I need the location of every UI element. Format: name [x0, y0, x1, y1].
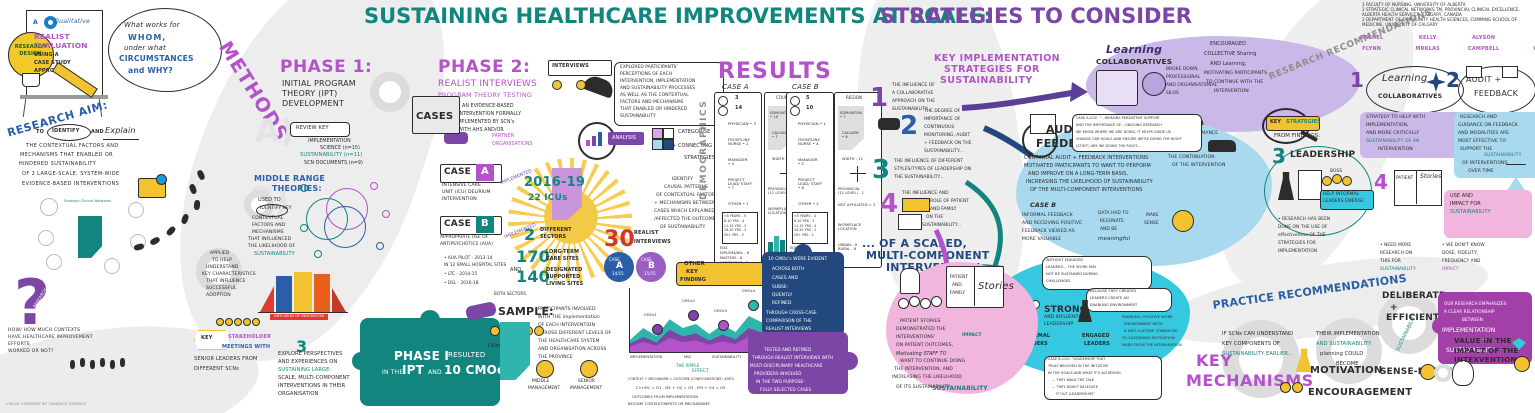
- mrt-used-to: USED TO: [258, 198, 281, 203]
- chart-point-label-1: CMOc2: [682, 300, 695, 304]
- case-b-col2-1: CALGARY• 8: [842, 132, 859, 140]
- affiliation-2: 2 STRATEGIC CLINICAL NETWORKS TM, PROVIN…: [1362, 8, 1534, 17]
- senior-management-icon: [580, 360, 598, 378]
- strategy-3-text-2: THE SUSTAINABILITY...: [894, 176, 944, 181]
- strategy-3-text-1: STYLES/TYPES OF LEADERSHIP ON: [894, 168, 971, 173]
- strategy-2-text-0: THE DEGREE OF: [924, 110, 960, 115]
- checklist-icon-rec2: [1466, 66, 1482, 78]
- case-b-years-list: <5 YEARS - 46-10 YRS - 311-15 YRS - 416-…: [794, 214, 816, 238]
- phase2-partner-1: ORGANISATIONS: [492, 142, 533, 147]
- using-a-label: USING A: [34, 53, 59, 58]
- diffusion-curve-chart: DIFFUSION OF INNOVATION: [258, 270, 350, 316]
- review-body-1: SCIENCE (n=15): [320, 146, 360, 151]
- okf-note-1: BECOME CONTEXT/INPUTS OR MECHANISMS: [628, 403, 710, 407]
- applied-4: THAT INFLUENCE: [206, 280, 246, 285]
- stat1-label-1: SECTORS: [540, 235, 566, 240]
- strategy-2-text-4: + FEEDBACK ON THE: [924, 142, 972, 147]
- case-a-icus: 22 ICUs: [528, 194, 568, 204]
- case-b-row-2: MANAGER• 2: [798, 158, 818, 166]
- person-icon: [1332, 174, 1342, 184]
- mrt-body-6: THE LIKELIHOOD OF: [248, 245, 295, 250]
- person-icon: [1292, 382, 1303, 393]
- explore-5: ORGANISATION: [278, 392, 318, 398]
- learning-collab-enc-4: TO CONTINUE WITH THE: [1206, 81, 1263, 86]
- stat3-number: 140: [516, 268, 550, 285]
- okf-label-0: OTHER: [684, 262, 705, 268]
- visual-summary-poster: Sustaining healthcare improvements at sc…: [0, 0, 1535, 413]
- sample-body-5: AND ORGANISATION ACROSS: [538, 348, 606, 353]
- phase2-body-0: AN EVIDENCE-BASED: [462, 104, 514, 109]
- leadership-quote-4: ... THEY DIDN'T DELEGATE: [1052, 386, 1098, 390]
- puzzle-ipt: IPT: [402, 364, 424, 377]
- easel-stand: [20, 95, 108, 99]
- audit-body-1: MOTIVATED PARTICIPANTS TO WANT TO PERFOR…: [1024, 164, 1151, 169]
- chart-point-cmoc3: [718, 320, 729, 331]
- rec-4-stories: Stories: [1420, 174, 1441, 180]
- practice-gear3-0: DELIBERATE: [1382, 292, 1445, 302]
- footprint: [110, 360, 115, 369]
- phase1-sub-2: DEVELOPMENT: [282, 100, 344, 109]
- case-a-female: 14: [735, 106, 742, 111]
- phase2-title: PHASE 2:: [438, 58, 530, 76]
- middle-management-label-1: MANAGEMENT: [528, 387, 560, 392]
- strategy-4-text-2: AND FAMILY: [930, 208, 956, 213]
- person-icon: [1280, 382, 1291, 393]
- stakeholder-line1: STAKEHOLDER: [228, 335, 271, 340]
- chart-point-label-2: CMOc3: [714, 310, 727, 314]
- rec-4-book-spine: [1416, 170, 1417, 204]
- gap-caption: HOW/ HOW MUCH CONTEXTSHAVE HEALTHCARE IM…: [8, 328, 93, 356]
- leadership-b3-0: ENABLING, POSITIVE WORK: [1122, 316, 1173, 320]
- case-b-col2-0: EDMONTON• 7: [840, 112, 862, 120]
- results-case-a-label: CASE A: [722, 84, 749, 92]
- puzzle-inthe: IN THE: [382, 370, 403, 376]
- evaluation-label: EVALUATION: [34, 42, 88, 50]
- patient-body-0: PATIENT STORIES: [900, 320, 940, 325]
- learning-collab-enc-1: COLLECTIVE Sharing: [1204, 52, 1256, 57]
- interviews-stat-l1: REALIST: [634, 231, 659, 236]
- rec-2-body-2: AND MODALITIES ARE: [1458, 132, 1509, 137]
- stat2-label-0: LONG-TERM: [546, 250, 579, 255]
- gear-icon-phase1: [370, 72, 410, 112]
- audit-data-2: AND BE: [1100, 228, 1117, 233]
- identify-6: OF SUSTAINABILITY: [660, 226, 705, 231]
- case-b-body-1: ANTIPSYCHOTICS (AUA): [440, 243, 493, 248]
- lightbulb-icon-audit: [1172, 210, 1194, 232]
- cmoc-bottom-4: IN THE TWO PURPOSE-: [756, 380, 805, 385]
- mrt-body-5: THAT INFLUENCED: [248, 238, 291, 243]
- practice-gear2-2: planning COULD: [1320, 352, 1363, 358]
- rec-4-patient: PATIENT: [1396, 176, 1413, 181]
- rec-3-badge-0: HELP INFORMAL: [1323, 193, 1359, 198]
- cmoc-bottom-5: FULLY SELECTED CASES: [760, 388, 811, 393]
- patient-body-6: THE INTERVENTION, AND: [894, 368, 953, 373]
- footprint: [149, 236, 161, 246]
- chart-point-cmoc1: [652, 324, 663, 335]
- interviews-stat-l2: INTERVIEWS: [634, 240, 671, 245]
- rec-2-number: 2: [1446, 70, 1460, 92]
- strategy-1-text-2: APPROACH ON THE: [892, 100, 935, 105]
- mrt-body-2: CONTEXTUAL: [252, 217, 283, 222]
- mechanism-value-impact: VALUE IN THEIMPACT OF THEINTEXVENTION: [1454, 336, 1519, 365]
- person-icon: [931, 296, 942, 307]
- person-icon: [216, 318, 224, 326]
- venn-diagram: [300, 180, 390, 265]
- hourglass-icon-rec2: [1506, 164, 1526, 192]
- footprint: [133, 243, 144, 251]
- rec-1-body-3: SUSTAINABILITY OF AN: [1366, 140, 1420, 145]
- phase2-body-1: INTERVENTION FORMALLY: [458, 112, 521, 117]
- leadership-b3-3: TO SUSTAINING MOTIVATION: [1122, 337, 1175, 341]
- audit-case-b-3: MORE VALUABLE: [1022, 238, 1061, 243]
- telephone-icon: [582, 73, 616, 98]
- categorise-swatches: [652, 128, 674, 150]
- cmoc-bottom-0: TESTED AND REFINED: [764, 348, 811, 353]
- okf-formula-2: C1+M1 = O1 , M2 + O2 = O3 , M3 + O4 = O5: [636, 386, 726, 390]
- underline-explain: [103, 139, 139, 140]
- patient-person-icon: [900, 268, 920, 294]
- audit-quote-4: (STUFF) ARE WE DOING THE RIGHT...: [1076, 145, 1140, 149]
- leadership-quote-5: IT OUT (LEADERSHIP)": [1056, 393, 1095, 397]
- rec-2-body-7: OVER TIME: [1468, 170, 1494, 175]
- chart-axis-y: [629, 288, 630, 352]
- aim-to: TO: [36, 130, 44, 135]
- rec-4-body-2: THIS FOR: [1380, 260, 1401, 265]
- strategy-number-2: 2: [900, 112, 918, 140]
- audit-quote-1: AND THE IMPORTANCE OF... ONGOING RESEARC…: [1076, 124, 1162, 128]
- case-a-row-0: PHYSICIAN • 3: [728, 122, 756, 126]
- curve-axis: [258, 312, 348, 313]
- author-last-1: MRKLAS: [1415, 47, 1440, 52]
- leadership-quote-2: IN THE GOALS AND WHAT IT'S ACHIEVING: [1048, 372, 1121, 376]
- aim-identify: IDENTIFY: [52, 129, 80, 134]
- chart-icon-rec2: [1502, 66, 1518, 78]
- footprint: [90, 360, 95, 369]
- applied-2: UNDERSTAND: [206, 266, 238, 271]
- speech-line-3: CIRCUMSTANCES: [119, 55, 194, 63]
- case-a-row-1: FRONTLINENURSE • 2: [728, 138, 750, 146]
- learning-collab-breakdown-3: SILOS: [1166, 92, 1179, 97]
- stat3-label-0: DESIGNATED: [546, 268, 582, 273]
- cmoc-top-4: QUENTLY: [772, 294, 792, 299]
- aim-body-4: EVIDENCE-BASED INTERVENTIONS: [22, 182, 119, 187]
- case-b-prov: PROVINCIAL(11 LEVEL) - 1: [838, 188, 864, 196]
- audit-data-1: RESONATE: [1100, 220, 1124, 225]
- leadership-b2-1: LEADERS CREATE AN: [1090, 297, 1129, 301]
- speech-line-0: What works for: [124, 22, 180, 30]
- puzzle-knob: [420, 310, 440, 330]
- visual-summary-credit: VISUAL SUMMARY BY: CANDACE RAMIREZ: [6, 402, 86, 406]
- ghost-letter-a: A): [255, 112, 294, 150]
- realist-label: REALIST: [34, 33, 70, 41]
- stat2-label-1: CARE SITES: [546, 257, 579, 262]
- puzzle-phase1: PHASE I: [394, 350, 449, 363]
- identify-3: + MECHANISMS BETWEEN: [654, 202, 716, 207]
- mechanism-encouragement: ENCOURAGEMENT: [1308, 388, 1412, 399]
- strategy-2-text-2: CONTINUOUS: [924, 126, 954, 131]
- identify-5: /AFFECTED THE OUTCOME: [654, 218, 716, 223]
- explore-3: SCALE, MULTI-COMPONENT: [278, 376, 350, 382]
- network-node: [104, 258, 120, 274]
- speech-line-4: and WHY?: [128, 67, 173, 75]
- case-a-body-2: INTERVENTION: [442, 198, 477, 203]
- strategy-3-text-0: THE INFLUENCE OF DIFFERENT: [894, 160, 963, 165]
- patient-body-5: WANT TO CONTINUE DOING: [900, 360, 965, 365]
- rec-3-badge-1: LEADERS EMERGE: [1323, 200, 1364, 205]
- phase1-sub-1: THEORY (IPT): [282, 90, 337, 99]
- person-icon: [490, 326, 500, 336]
- rec-1-title2: COLLABORATIVES: [1378, 94, 1442, 101]
- case-b-both: BOTH SECTORS: [494, 292, 526, 296]
- puzzle-knob-cmoc-bottom: [840, 352, 858, 370]
- magnifier-strategies: STRATEGIES: [1286, 120, 1321, 125]
- footprints-bottom: [70, 358, 160, 372]
- cmoc-bottom-1: THROUGH REALIST INTERVIEWS WITH: [752, 356, 833, 361]
- mrt-body-7: SUSTAINABILITY: [254, 252, 295, 257]
- case-b-bullet-0: • AUA PILOT - 2013-14: [444, 256, 492, 261]
- authors-block: 1 FACULTY OF NURSING, UNIVERSITY OF ALBE…: [1356, 3, 1535, 25]
- practice-gear1-1: KEY COMPONENTS OF: [1222, 342, 1280, 348]
- case-b-col2-title: REGION: [846, 96, 862, 100]
- puzzle-icon-learning: [1142, 72, 1166, 96]
- easel-leg-left: [23, 99, 27, 117]
- rec-3-body-3: STRATEGIES FOR: [1278, 242, 1316, 247]
- venn-node: [300, 184, 308, 192]
- cmoc-top-0: 10 CMOc's WERE EVIDENT: [768, 258, 827, 263]
- case-study-label: CASE STUDY: [34, 61, 71, 66]
- author-first-2: ALYSON: [1468, 36, 1499, 41]
- rec-1-body-2: AND MORE CRITICALLY: [1366, 132, 1419, 137]
- audit-case-a-2: THE CONTINUATION: [1168, 156, 1215, 161]
- case-a-years-list: <5 YEARS - 56-10 YRS - 411-15 YRS - 316-…: [724, 214, 746, 238]
- rec-3-boss: BOSS: [1330, 170, 1342, 175]
- senior-management-label-1: MANAGEMENT: [570, 387, 602, 392]
- leadership-b1-3: CHALLENGES: [1046, 280, 1070, 284]
- network-center-shape: [78, 216, 102, 258]
- engaged-leaders-1: LEADERS: [1084, 342, 1110, 347]
- patient-body-2: INTERVENTIONS': [896, 336, 935, 341]
- page-title-part2: Strategies to consider: [880, 5, 1192, 28]
- explored-6: THAT ENABLED OR HINDERED: [620, 108, 687, 113]
- venn-node: [376, 242, 384, 250]
- chart-point-cmoc4: [748, 300, 759, 311]
- review-body-3: SCN DOCUMENTS (n=9): [304, 161, 363, 166]
- aim-explain: Explain: [105, 127, 136, 136]
- stakeholder-line4: DIFFERENT SCNs: [194, 367, 239, 372]
- patient-body-4: Motivating STAFF TO: [896, 352, 946, 357]
- audit-body-4: OF THE MULTI-COMPONENT INTERVENTIONS: [1030, 188, 1142, 193]
- okf-formula-1: CONTEXT + MECHANISM = OUTCOME (CONFIGURA…: [628, 378, 734, 381]
- applied-3: KEY CHARACTERISTICS: [202, 273, 256, 278]
- okf-xlabel-1: MID: [684, 356, 691, 360]
- case-b-urban: URBAN - 9RURAL - 6: [838, 244, 857, 252]
- pin-icon: [156, 174, 167, 185]
- case-a-tag-label: CASE: [444, 168, 471, 178]
- person-icon: [1322, 176, 1332, 186]
- rec-3-body-4: IMPLEMENTATION: [1278, 250, 1317, 255]
- footprint: [165, 225, 176, 236]
- phase1-sub-0: INITIAL PROGRAM: [282, 80, 356, 89]
- swatch: [652, 128, 663, 139]
- case-b-bullet-2: • LTC - 2014-15: [444, 272, 477, 277]
- practice-gear2-1: AND SUSTAINABILITY: [1316, 342, 1371, 348]
- binoculars-icon: [878, 118, 900, 130]
- case-b-row-4: OTHER • 2: [798, 202, 819, 206]
- case-b-row-3: PROJECTLEAD/ STAFF• 6: [798, 178, 822, 190]
- footprint: [180, 213, 189, 224]
- stat2-number: 170: [516, 248, 550, 265]
- person-icon: [234, 318, 242, 326]
- cmoc-top-2: CASES AND: [772, 277, 798, 282]
- practice-puzzle-1: A CLEAR RELATIONSHIP: [1444, 310, 1495, 315]
- puzzle-knob: [352, 352, 370, 370]
- strategy-1-text-0: THE INFLUENCE OF: [892, 84, 935, 89]
- strategy-number-1: 1: [870, 84, 888, 112]
- case-b-tag-label: CASE: [444, 220, 471, 230]
- gender-icon-female: [718, 106, 728, 116]
- key-strategies-heading-1: STRATEGIES FOR: [944, 65, 1040, 75]
- chart-axis-x: [629, 352, 763, 353]
- people-icons-stakeholder: [216, 318, 266, 330]
- family-icons: [898, 296, 946, 312]
- stat1-number: 2: [524, 226, 535, 243]
- phase1-title: PHASE 1:: [280, 58, 372, 76]
- strategy-1-text-1: A COLLABORATIVE: [892, 92, 933, 97]
- explored-0: EXPLORED PARTICIPANTS': [620, 66, 678, 71]
- shared-learning-icon: [1096, 70, 1138, 106]
- case-a-body-1: UNIT (ICU) DELIRIUM: [442, 191, 491, 196]
- network-caption: Strategic Clinical Networks: [64, 200, 111, 204]
- author-last-0: FLYNN: [1360, 47, 1383, 52]
- person-icon: [1342, 176, 1352, 186]
- footprint: [196, 169, 206, 181]
- author-first-1: KELLY: [1415, 36, 1440, 41]
- rec-3-body-1: DONE ON THE USE OF: [1278, 226, 1328, 231]
- case-b-letter: B: [481, 219, 489, 230]
- rec-4-title1: USE AND: [1450, 194, 1473, 199]
- swatch: [663, 128, 674, 139]
- audit-case-b-1: AND RECEIVING POSITIVE: [1022, 222, 1082, 227]
- audit-data-3: meaningful: [1098, 236, 1130, 242]
- audit-make-sense-1: SENSE: [1144, 222, 1159, 227]
- rec-4-body-7: IMPACT: [1442, 268, 1458, 273]
- demographics-label: DEMOGRAPHICS: [700, 100, 710, 200]
- case-a-years: 2016-19: [524, 176, 585, 190]
- strategy-2-text-3: MONITORING, AUDIT: [924, 134, 970, 139]
- person-icon: [909, 296, 920, 307]
- rec-4-body-6: FREQUENCY AND: [1442, 260, 1480, 265]
- case-b-row-1: FRONTLINENURSE • 4: [798, 138, 820, 146]
- person-icon: [898, 298, 909, 309]
- okf-xlabel-0: IMPLEMENTATION: [630, 356, 662, 360]
- author-last-2: CAMPBELL: [1468, 47, 1499, 52]
- case-b-bullet-3: • DSL - 2016-18: [444, 281, 478, 286]
- person-icon: [534, 326, 544, 336]
- okf-label-1: KEY: [686, 270, 698, 276]
- leadership-b3-1: ENVIRONMENT WITH: [1124, 323, 1162, 327]
- rec-4-body-0: • NEED MORE: [1380, 244, 1411, 249]
- patient-sustainability: SUSTAINABILITY: [932, 386, 988, 392]
- audit-body-3: INCREASING THE LIKELIHOOD OF SUSTAINABIL…: [1026, 180, 1153, 185]
- speech-line-2: under what: [124, 45, 166, 53]
- bar: [598, 132, 602, 146]
- sample-body-0: PARTICIPANTS INVOLVED: [538, 308, 596, 313]
- curve-bar-orange: [314, 274, 330, 312]
- leadership-b3-4: MADE FROM THE INTERVENTION: [1122, 344, 1182, 348]
- stat3-label-2: LIVING SITES: [546, 282, 583, 287]
- explore-4: INTERVENTIONS IN THEIR: [278, 384, 345, 390]
- gear-icon-qualitative-hole: [48, 20, 53, 25]
- rec-3-body-2: effectiveness OF THE: [1278, 234, 1326, 239]
- strategy-number-3: 3: [872, 156, 890, 184]
- case-b-male: 5: [806, 96, 810, 101]
- leadership-quote-0: CASE B-COC: "LEADERSHIP THAT: [1048, 358, 1105, 362]
- patient-body-1: DEMONSTRATED THE: [896, 328, 946, 333]
- practice-gear1-2: SUSTAINABILITY EARLIER...: [1222, 352, 1293, 358]
- rec-4-body-5: DOSE, FIDELITY,: [1442, 252, 1478, 257]
- analysis-label: ANALYSIS: [612, 136, 636, 141]
- identify-0: IDENTIFY: [672, 178, 693, 183]
- explored-1: PERCEPTIONS OF EACH: [620, 73, 672, 78]
- case-a-row-2: MANAGER• 4: [728, 158, 748, 166]
- mechanism-motivation: MOTIVATION: [1310, 366, 1382, 377]
- case-a-row-3: PROJECTLEAD/ STAFF• 7: [728, 178, 752, 190]
- case-a-male: 3: [735, 96, 739, 101]
- mrt-body-4: MECHANISMS: [252, 231, 284, 236]
- network-node: [38, 230, 54, 246]
- audit-body-2: AND IMPROVE ON A LONG-TERM BASIS,: [1028, 172, 1128, 177]
- learning-collab-breakdown-1: PROFESSIONAL: [1166, 76, 1200, 81]
- author-names: RACHEL FLYNN KELLY MRKLAS ALYSON CAMPBEL…: [1360, 36, 1535, 47]
- practice-gear1-0: IF SCNs CAN UNDERSTAND: [1222, 332, 1293, 338]
- person-icon: [225, 318, 233, 326]
- car-icon-audit: [1208, 140, 1236, 152]
- mrt-body-3: FACTORS AND: [252, 224, 285, 229]
- explored-5: FACTORS AND MECHANISMS: [620, 101, 684, 106]
- gender-icon-female-b: [790, 106, 800, 116]
- compass-icon-b: [850, 166, 866, 182]
- middle-management-label-0: MIDDLE: [532, 380, 549, 385]
- strategy-4-text-0: THE INFLUENCE AND: [902, 192, 949, 197]
- key-strategies-heading-0: KEY IMPLEMENTATION: [934, 54, 1060, 64]
- strategy-2-text-5: SUSTAINABILITY...: [924, 150, 963, 155]
- swatch: [652, 139, 663, 150]
- leadership-b2-2: ENABLING ENVIRONMENT: [1090, 304, 1137, 308]
- chart-point-label-3: CMOc4: [742, 290, 755, 294]
- aim-body-3: OF 2 LARGE-SCALE, SYSTEM-WIDE: [22, 172, 120, 177]
- footprint: [70, 360, 75, 369]
- middle-management-icon: [536, 360, 554, 378]
- lightbulb-icon-value: [1514, 356, 1530, 372]
- book-icon-strategy4: [898, 214, 922, 230]
- network-node: [40, 198, 58, 216]
- person-icon: [252, 318, 260, 326]
- person-icon: [243, 318, 251, 326]
- strategy-2-text-1: IMPORTANCE OF: [924, 118, 960, 123]
- audit-case-a-3: OF THE INTERVENTION: [1172, 164, 1225, 169]
- patient-book-2: FAMILY: [950, 292, 965, 297]
- cmoc-top-7: COMPARISON OF THE: [766, 319, 812, 324]
- leadership-quote-3: ... THEY WALK THE TALK: [1052, 379, 1094, 383]
- review-key-label: REVIEW KEY: [296, 126, 329, 131]
- learning-collab-title1: Learning: [1106, 44, 1162, 56]
- chart-point-cmoc2: [688, 310, 699, 321]
- explore-0: EXPLORE PERSPECTIVES: [278, 352, 342, 358]
- explore-2: SUSTAINING LARGE-: [278, 368, 331, 374]
- alberta-shape-teal: [500, 322, 530, 380]
- stakeholder-key: KEY: [201, 336, 213, 341]
- patient-family-icon-strategy4: [902, 198, 930, 212]
